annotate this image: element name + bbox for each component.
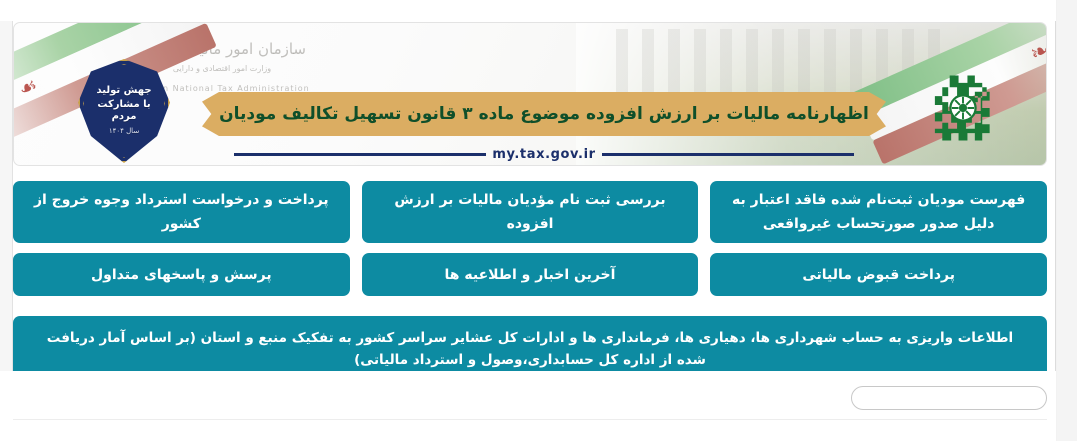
year-slogan-line2: با مشارکت مردم [88, 99, 160, 123]
page-content-column: سازمان امور مالیاتی کشور وزارت امور اقتص… [0, 0, 1056, 441]
flag-allah-emblem-icon: ☙ [13, 74, 40, 103]
tile-label: آخرین اخبار و اطلاعیه ها [445, 263, 616, 287]
year-slogan-text: جهش تولید با مشارکت مردم سال ۱۴۰۴ [78, 59, 170, 163]
bottom-zone [13, 386, 1047, 426]
bottom-divider [13, 419, 1047, 420]
tile-vat-registration-check[interactable]: بررسی ثبت نام مؤدیان مالیات بر ارزش افزو… [362, 181, 699, 243]
tile-label: فهرست مودیان ثبت‌نام شده فاقد اعتبار به … [724, 188, 1033, 236]
page-root: سازمان امور مالیاتی کشور وزارت امور اقتص… [0, 0, 1077, 441]
tile-latest-news-announcements[interactable]: آخرین اخبار و اطلاعیه ها [362, 253, 699, 296]
url-rule-left [234, 153, 486, 156]
hero-url-row: my.tax.gov.ir [234, 145, 854, 163]
hero-url-text: my.tax.gov.ir [492, 147, 595, 162]
inta-logo-icon [926, 71, 1000, 145]
left-rail [0, 21, 13, 371]
tile-pay-tax-bills[interactable]: پرداخت قبوض مالیاتی [710, 253, 1047, 296]
hero-title-text: اظهارنامه مالیات بر ارزش افزوده موضوع ما… [219, 104, 869, 124]
tile-label: پرداخت و درخواست استرداد وجوه خروج از کش… [27, 188, 336, 236]
quick-links-grid: فهرست مودیان ثبت‌نام شده فاقد اعتبار به … [13, 181, 1047, 392]
year-slogan-year: سال ۱۴۰۴ [109, 125, 139, 137]
hero-background-text-line1: سازمان امور مالیاتی کشور [138, 40, 306, 58]
tile-label: پرداخت قبوض مالیاتی [802, 263, 955, 287]
bottom-text-field[interactable] [851, 386, 1047, 410]
tile-faq[interactable]: پرسش و پاسخهای متداول [13, 253, 350, 296]
tile-label: بررسی ثبت نام مؤدیان مالیات بر ارزش افزو… [376, 188, 685, 236]
page-right-gutter [1057, 0, 1077, 441]
url-rule-right [602, 153, 854, 156]
tile-exit-fee-payment-refund[interactable]: پرداخت و درخواست استرداد وجوه خروج از کش… [13, 181, 350, 243]
year-slogan-line1: جهش تولید [96, 85, 151, 97]
tile-invalid-taxpayers-list[interactable]: فهرست مودیان ثبت‌نام شده فاقد اعتبار به … [710, 181, 1047, 243]
tile-label: پرسش و پاسخهای متداول [91, 263, 272, 287]
quick-links-row-1: فهرست مودیان ثبت‌نام شده فاقد اعتبار به … [13, 181, 1047, 243]
year-slogan-emblem-icon: جهش تولید با مشارکت مردم سال ۱۴۰۴ [78, 59, 170, 163]
hero-banner: سازمان امور مالیاتی کشور وزارت امور اقتص… [13, 22, 1047, 166]
top-strip [0, 0, 1056, 21]
quick-links-row-2: پرداخت قبوض مالیاتی آخرین اخبار و اطلاعی… [13, 253, 1047, 296]
tile-label: اطلاعات واریزی به حساب شهرداری ها، دهیار… [37, 327, 1023, 371]
hero-title-ribbon: اظهارنامه مالیات بر ارزش افزوده موضوع ما… [219, 92, 869, 136]
